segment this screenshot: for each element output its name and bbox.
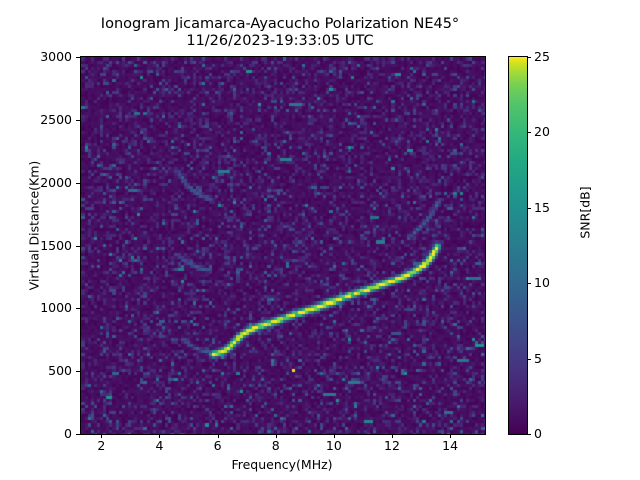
ionogram-figure: Ionogram Jicamarca-Ayacucho Polarization… xyxy=(0,0,640,480)
x-tick-mark xyxy=(334,434,335,438)
y-tick-label: 500 xyxy=(6,365,72,378)
colorbar-tick-label: 10 xyxy=(534,277,550,290)
y-tick-mark xyxy=(76,371,80,372)
colorbar-tick-label: 25 xyxy=(534,51,550,64)
x-tick-mark xyxy=(218,434,219,438)
colorbar-tick-mark xyxy=(527,359,531,360)
y-tick-mark xyxy=(76,308,80,309)
colorbar-tick-mark xyxy=(527,132,531,133)
y-tick-mark xyxy=(76,120,80,121)
x-tick-label: 8 xyxy=(256,440,296,453)
colorbar-tick-label: 20 xyxy=(534,126,550,139)
y-axis-label: Virtual Distance(Km) xyxy=(27,116,42,336)
colorbar-tick-mark xyxy=(527,434,531,435)
x-tick-label: 4 xyxy=(139,440,179,453)
x-tick-label: 10 xyxy=(314,440,354,453)
x-tick-label: 12 xyxy=(372,440,412,453)
colorbar-tick-mark xyxy=(527,283,531,284)
x-tick-label: 6 xyxy=(198,440,238,453)
x-tick-mark xyxy=(450,434,451,438)
y-tick-mark xyxy=(76,183,80,184)
y-tick-mark xyxy=(76,434,80,435)
x-tick-label: 2 xyxy=(81,440,121,453)
colorbar xyxy=(508,56,528,435)
x-tick-mark xyxy=(159,434,160,438)
colorbar-tick-label: 0 xyxy=(534,428,542,441)
y-tick-label: 3000 xyxy=(6,51,72,64)
y-tick-mark xyxy=(76,246,80,247)
x-tick-label: 14 xyxy=(430,440,470,453)
colorbar-tick-mark xyxy=(527,208,531,209)
x-tick-mark xyxy=(392,434,393,438)
ionogram-heatmap xyxy=(81,57,485,434)
page-title: Ionogram Jicamarca-Ayacucho Polarization… xyxy=(0,16,560,50)
y-tick-label: 0 xyxy=(6,428,72,441)
x-tick-mark xyxy=(101,434,102,438)
colorbar-tick-label: 5 xyxy=(534,353,542,366)
colorbar-tick-mark xyxy=(527,57,531,58)
x-tick-mark xyxy=(276,434,277,438)
colorbar-label: SNR[dB] xyxy=(578,133,593,293)
colorbar-tick-label: 15 xyxy=(534,202,550,215)
x-axis-label: Frequency(MHz) xyxy=(80,457,484,472)
y-tick-mark xyxy=(76,57,80,58)
plot-area xyxy=(80,56,486,435)
